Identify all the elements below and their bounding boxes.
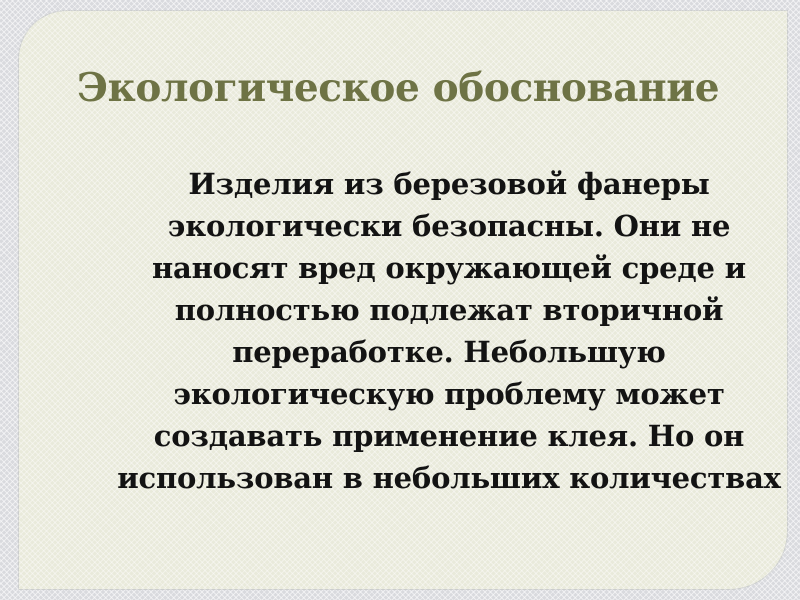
body-line: полностью подлежат вторичной (103, 289, 787, 331)
body-line: экологическую проблему может (103, 373, 787, 415)
body-line: переработке. Небольшую (103, 331, 787, 373)
body-line: использован в небольших количествах (103, 457, 787, 499)
content-panel: Экологическое обоснование Изделия из бер… (19, 11, 787, 589)
slide-body-text: Изделия из березовой фанеры экологически… (103, 163, 787, 499)
body-line: Изделия из березовой фанеры (103, 163, 787, 205)
body-line: создавать применение клея. Но он (103, 415, 787, 457)
page-title: Экологическое обоснование (77, 63, 787, 113)
body-line: наносят вред окружающей среде и (103, 247, 787, 289)
body-line: экологически безопасны. Они не (103, 205, 787, 247)
